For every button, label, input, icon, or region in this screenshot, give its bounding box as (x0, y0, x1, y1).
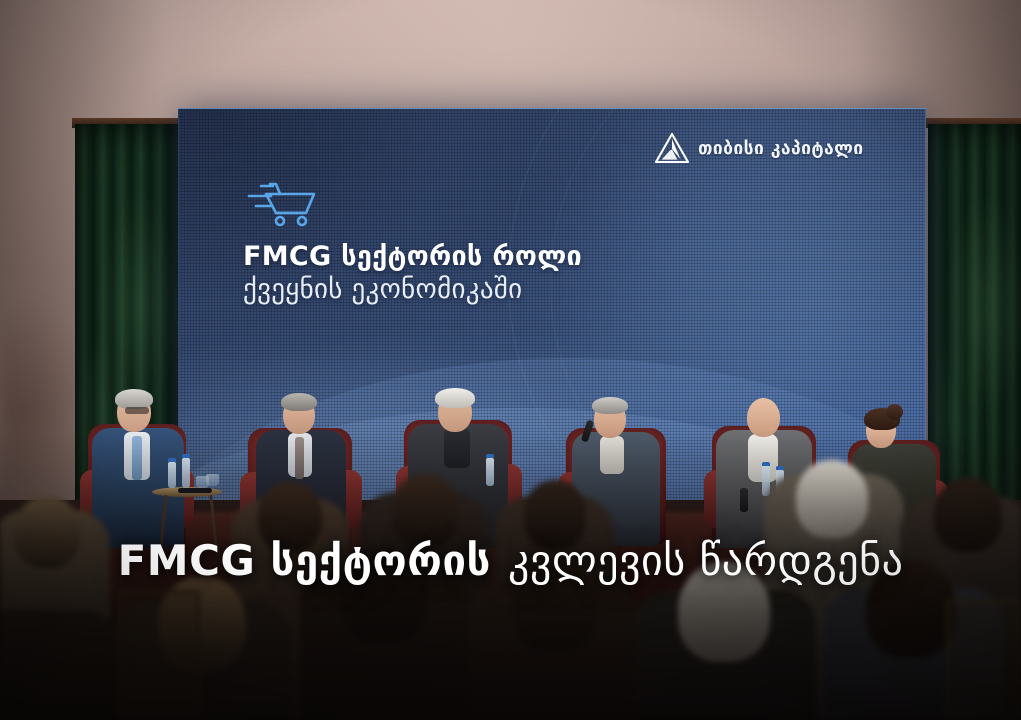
screen-headline-line2: ქვეყნის ეკონომიკაში (243, 275, 582, 305)
caption-regular-text: კვლევის წარდგენა (508, 536, 903, 585)
lower-third-caption: FMCG სექტორის კვლევის წარდგენა (0, 536, 1021, 585)
event-photo-frame: FMCG სექტორის როლი ქვეყნის ეკონომიკაში თ… (0, 0, 1021, 720)
panelist-6-hair-bun (886, 404, 903, 420)
shopping-cart-icon (236, 172, 322, 228)
brand-lockup: თიბისი კაპიტალი (655, 133, 864, 164)
panelist-1-hair (115, 389, 153, 409)
panelist-2-hair (281, 393, 317, 411)
panelist-1-glasses (125, 407, 149, 414)
screen-headline: FMCG სექტორის როლი ქვეყნის ეკონომიკაში (243, 243, 582, 305)
brand-name: თიბისი კაპიტალი (698, 139, 864, 159)
panelist-4-hair (592, 397, 628, 414)
tbc-triangle-logo (655, 133, 689, 164)
panelist-3-hair (435, 388, 475, 408)
screen-headline-line1: FMCG სექტორის როლი (243, 243, 582, 272)
caption-bold-text: FMCG სექტორის (118, 536, 491, 585)
